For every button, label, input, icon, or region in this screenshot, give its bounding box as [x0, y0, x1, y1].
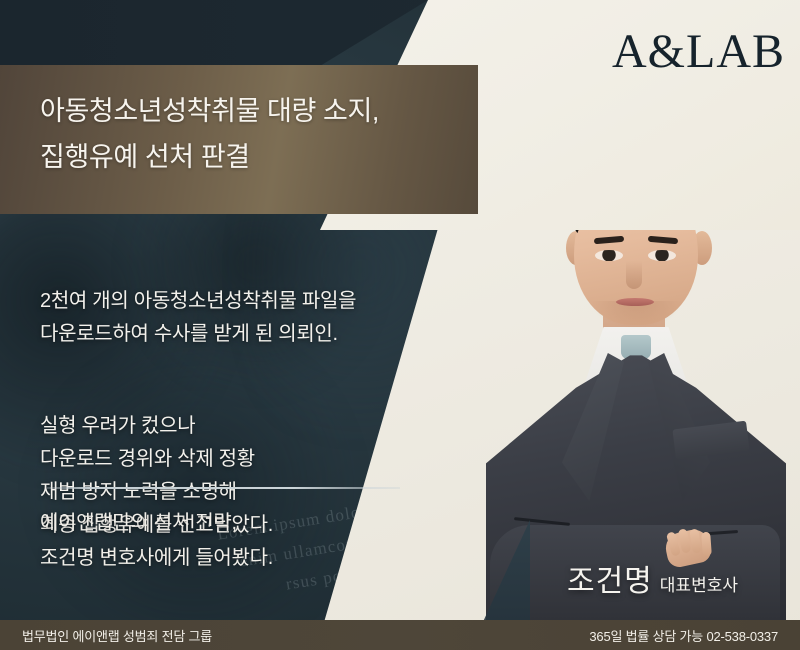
footer-contact[interactable]: 365일 법률 상담 가능 02-538-0337	[589, 626, 778, 645]
portrait-tie-knot	[621, 335, 651, 359]
portrait-finger	[701, 532, 712, 557]
promo-card: Lorem ipsum dolor sit amet, consectetur …	[0, 0, 800, 650]
headline-title: 아동청소년성착취물 대량 소지, 집행유예 선처 판결	[40, 88, 470, 180]
lawyer-role: 대표변호사	[660, 576, 738, 595]
portrait-eye-right	[648, 250, 676, 261]
footer-firm-name: 법무법인 에이앤랩 성범죄 전담 그룹	[22, 626, 212, 645]
portrait-mouth	[616, 298, 654, 306]
lawyer-credit: 조건명대표변호사	[520, 556, 785, 600]
alab-logo[interactable]: A&LAB	[612, 28, 785, 76]
body-paragraph-1: 2천여 개의 아동청소년성착취물 파일을 다운로드하여 수사를 받게 된 의뢰인…	[40, 285, 460, 351]
portrait-nose	[626, 261, 642, 289]
closing-copy: 에이앤랩만의 선처 전략, 조건명 변호사에게 들어봤다.	[40, 506, 460, 576]
footer-bar: 법무법인 에이앤랩 성범죄 전담 그룹 365일 법률 상담 가능 02-538…	[0, 620, 800, 650]
section-divider	[47, 487, 400, 489]
lawyer-name: 조건명	[567, 565, 653, 598]
portrait-eye-left	[595, 250, 623, 261]
